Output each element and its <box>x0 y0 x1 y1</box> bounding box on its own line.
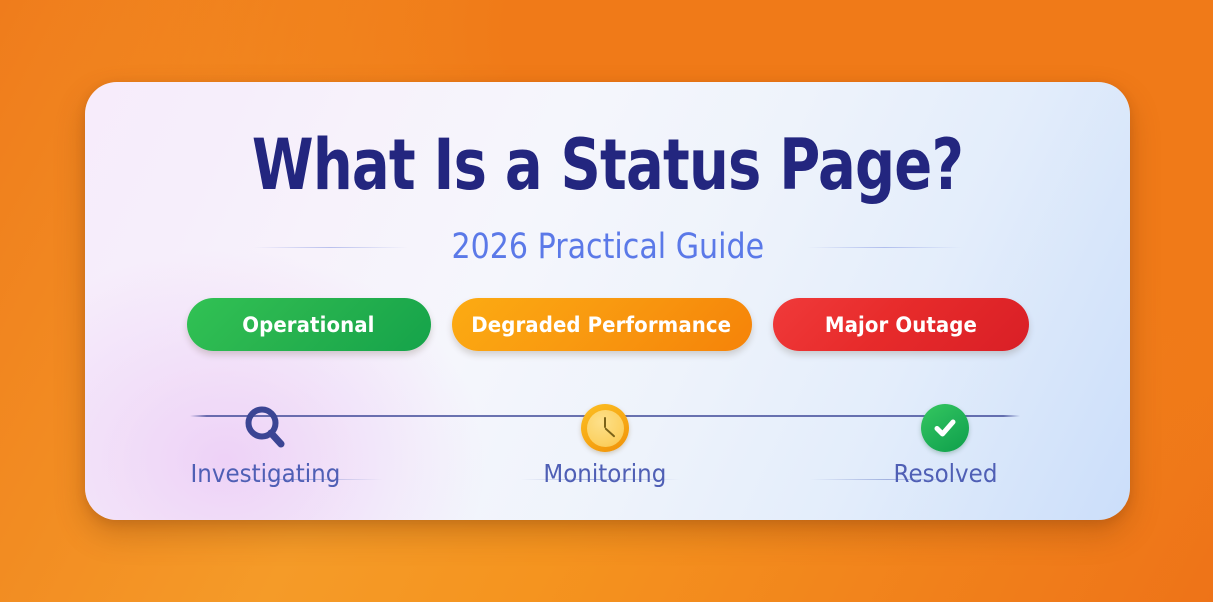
subtitle-rule-left <box>253 247 408 248</box>
timeline-step-monitoring-label: Monitoring <box>543 459 666 488</box>
status-pill-degraded-performance-label: Degraded Performance <box>472 313 732 337</box>
magnifier-icon <box>239 400 291 456</box>
status-pill-degraded-performance[interactable]: Degraded Performance <box>452 298 752 351</box>
status-pill-operational[interactable]: Operational <box>187 298 431 351</box>
check-circle-icon <box>921 400 969 456</box>
status-pill-major-outage[interactable]: Major Outage <box>773 298 1029 351</box>
subtitle-rule-right <box>807 247 962 248</box>
status-pill-operational-label: Operational <box>242 313 374 337</box>
timeline-steps: Investigating Monitoring <box>190 400 1020 488</box>
timeline-step-monitoring[interactable]: Monitoring <box>530 400 680 488</box>
status-pill-group: Operational Degraded Performance Major O… <box>85 298 1130 351</box>
poster-canvas: What Is a Status Page? 2026 Practical Gu… <box>0 0 1213 602</box>
status-page-card: What Is a Status Page? 2026 Practical Gu… <box>85 82 1130 520</box>
page-subtitle: 2026 Practical Guide <box>451 230 764 265</box>
timeline-step-investigating[interactable]: Investigating <box>190 400 340 488</box>
timeline-step-resolved[interactable]: Resolved <box>870 400 1020 488</box>
subtitle-row: 2026 Practical Guide <box>85 230 1130 265</box>
incident-timeline: Investigating Monitoring <box>190 400 1020 500</box>
timeline-step-resolved-label: Resolved <box>893 459 997 488</box>
clock-icon <box>581 400 629 456</box>
timeline-step-investigating-label: Investigating <box>190 459 340 488</box>
card-content: What Is a Status Page? 2026 Practical Gu… <box>85 82 1130 520</box>
status-pill-major-outage-label: Major Outage <box>824 313 976 337</box>
page-title: What Is a Status Page? <box>190 130 1026 200</box>
